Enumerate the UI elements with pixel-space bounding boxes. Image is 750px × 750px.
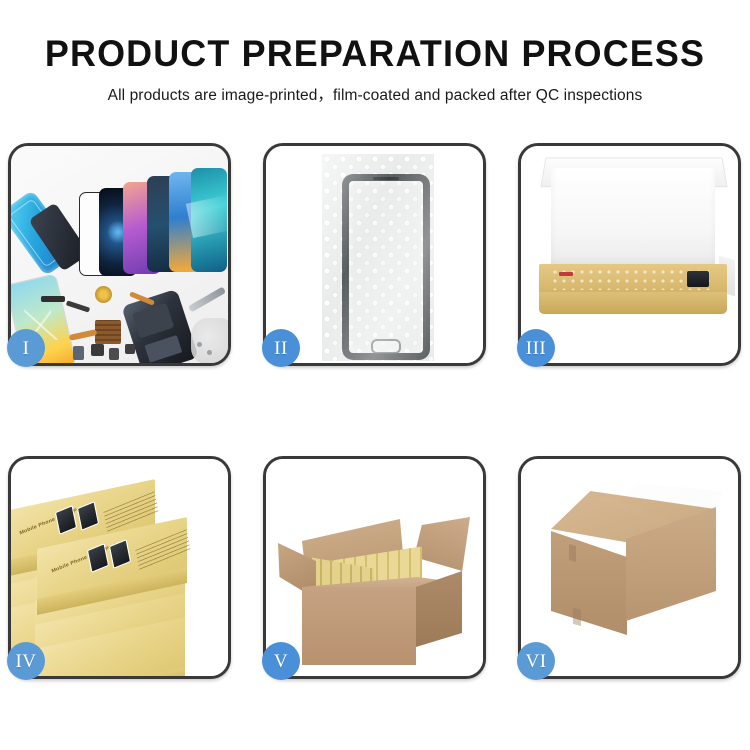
step-1-image <box>11 146 228 363</box>
step-3-image <box>521 146 738 363</box>
connector-part-1 <box>73 346 84 360</box>
connector-part-2 <box>91 344 104 356</box>
step-panel-3: III <box>518 143 741 366</box>
step-panel-2: II <box>263 143 486 366</box>
step-numeral-2: II <box>274 339 288 358</box>
step-numeral-6: VI <box>525 652 546 671</box>
header: PRODUCT PREPARATION PROCESS All products… <box>0 0 750 107</box>
flex-cable-part <box>41 296 65 302</box>
step-badge-6: VI <box>517 642 555 680</box>
step-numeral-1: I <box>23 339 30 358</box>
step-5-image <box>266 459 483 676</box>
white-foam-padding <box>551 168 715 268</box>
step-6-image <box>521 459 738 676</box>
connector-part-4 <box>125 344 135 354</box>
product-preparation-infographic: PRODUCT PREPARATION PROCESS All products… <box>0 0 750 750</box>
bubble-wrap-gloss <box>322 154 434 361</box>
step-panel-4: Mobile Phone Spare Parts Mobile Phone Sp… <box>8 456 231 679</box>
speaker-coil-part <box>95 286 112 303</box>
step-panel-1: I <box>8 143 231 366</box>
step-numeral-3: III <box>526 339 546 358</box>
steps-grid: I II <box>8 143 742 679</box>
carton-seam-lower <box>573 608 581 626</box>
bubble-wrapped-screen-in-box <box>551 268 715 290</box>
step-badge-1: I <box>7 329 45 367</box>
step-panel-6: VI <box>518 456 741 679</box>
step-badge-4: IV <box>7 642 45 680</box>
kraft-box-front <box>539 292 727 314</box>
screws-graphic <box>197 342 217 358</box>
step-badge-3: III <box>517 329 555 367</box>
step-numeral-4: IV <box>15 652 36 671</box>
connector-part-3 <box>109 348 119 360</box>
step-panel-5: V <box>263 456 486 679</box>
step-badge-5: V <box>262 642 300 680</box>
carton-seam-upper <box>569 544 576 562</box>
carton-front-face <box>302 587 416 665</box>
step-2-image <box>266 146 483 363</box>
page-title: PRODUCT PREPARATION PROCESS <box>11 32 739 76</box>
page-subtitle: All products are image-printed，film-coat… <box>0 85 750 107</box>
chip-grid-part <box>95 320 121 344</box>
step-4-image: Mobile Phone Spare Parts Mobile Phone Sp… <box>11 459 228 676</box>
step-numeral-5: V <box>274 652 288 671</box>
cyan-screen-graphic <box>191 168 227 272</box>
step-badge-2: II <box>262 329 300 367</box>
